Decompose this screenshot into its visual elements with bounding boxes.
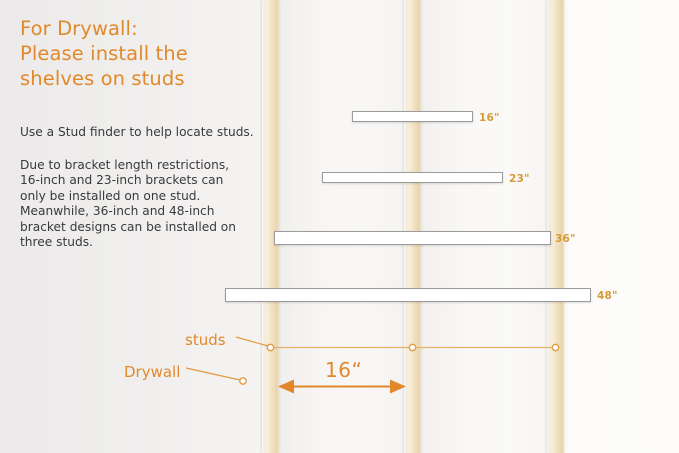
stud-3-edge bbox=[547, 0, 554, 453]
stud-1 bbox=[262, 0, 279, 453]
stud-2-edge bbox=[404, 0, 411, 453]
drywall-leader-line bbox=[186, 368, 240, 380]
bracket-label-48: 48" bbox=[597, 290, 618, 302]
stud-spacing-label: 16“ bbox=[325, 358, 362, 382]
body-paragraph-2: Due to bracket length restrictions, 16-i… bbox=[20, 158, 236, 250]
drywall-label: Drywall bbox=[124, 363, 180, 381]
drywall-marker bbox=[240, 378, 246, 384]
bracket-bar-16 bbox=[352, 111, 473, 122]
stud-2 bbox=[404, 0, 421, 453]
body-paragraph-1: Use a Stud finder to help locate studs. bbox=[20, 125, 254, 140]
bracket-label-16: 16" bbox=[479, 112, 500, 124]
bracket-label-23: 23" bbox=[509, 173, 530, 185]
bracket-label-36: 36" bbox=[555, 233, 576, 245]
stud-3 bbox=[547, 0, 564, 453]
studs-label: studs bbox=[185, 331, 226, 349]
drywall-shelf-diagram: For Drywall: Please install the shelves … bbox=[0, 0, 679, 453]
wall-bay-right bbox=[421, 0, 549, 453]
bracket-bar-36 bbox=[274, 231, 551, 245]
bracket-bar-48 bbox=[225, 288, 591, 302]
wall-bay-left bbox=[278, 0, 404, 453]
page-title: For Drywall: Please install the shelves … bbox=[20, 16, 188, 91]
stud-1-edge bbox=[262, 0, 269, 453]
bracket-bar-23 bbox=[322, 172, 503, 183]
